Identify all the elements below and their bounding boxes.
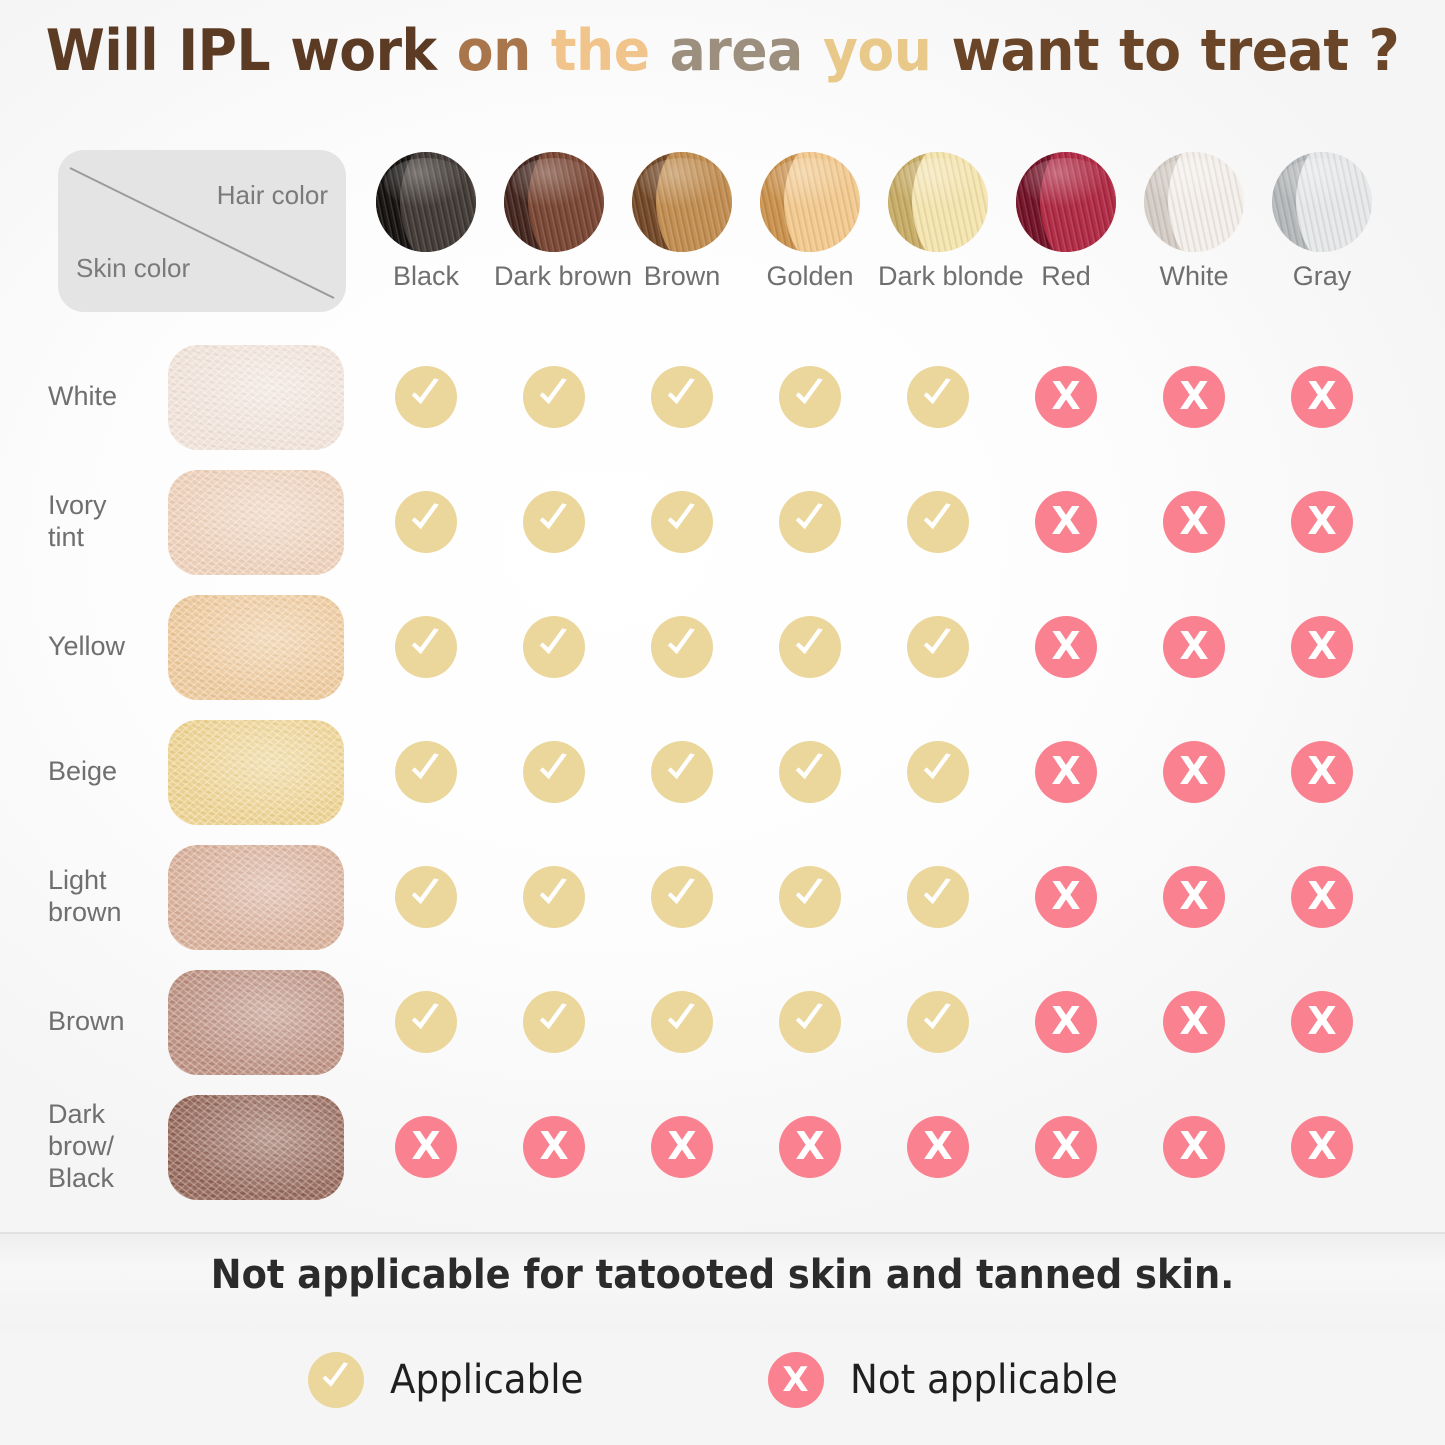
skin-color-label-ivory-tint: Ivorytint bbox=[48, 490, 178, 554]
not-applicable-mark: X bbox=[1163, 866, 1225, 928]
not-applicable-mark: X bbox=[1291, 491, 1353, 553]
title-word: want bbox=[951, 18, 1100, 84]
legend-label: Not applicable bbox=[850, 1357, 1118, 1403]
check-icon bbox=[407, 376, 443, 412]
title-word: IPL bbox=[177, 18, 271, 84]
skin-color-label-dark-brow-black: Darkbrow/Black bbox=[48, 1099, 178, 1195]
applicable-mark bbox=[779, 616, 841, 678]
applicable-mark bbox=[651, 866, 713, 928]
cross-icon: X bbox=[779, 1116, 841, 1178]
cross-icon: X bbox=[1163, 366, 1225, 428]
check-icon bbox=[791, 1001, 827, 1037]
hair-swatch-icon bbox=[498, 152, 610, 252]
check-icon bbox=[407, 876, 443, 912]
result-cell bbox=[651, 491, 713, 553]
applicable-mark bbox=[907, 616, 969, 678]
result-cell bbox=[523, 991, 585, 1053]
result-cell: X bbox=[395, 1116, 457, 1178]
result-cell bbox=[523, 491, 585, 553]
applicable-mark bbox=[907, 741, 969, 803]
title-word: you bbox=[822, 18, 932, 84]
not-applicable-mark: X bbox=[1035, 1116, 1097, 1178]
applicable-mark bbox=[779, 866, 841, 928]
hair-color-header-golden: Golden bbox=[750, 152, 870, 292]
not-applicable-mark: X bbox=[1291, 1116, 1353, 1178]
cross-icon: X bbox=[1035, 491, 1097, 553]
cross-icon: X bbox=[768, 1352, 824, 1408]
result-cell: X bbox=[1291, 741, 1353, 803]
ipl-compatibility-chart: Will IPL work on the area you want to tr… bbox=[0, 0, 1445, 1445]
applicable-mark bbox=[651, 741, 713, 803]
check-icon bbox=[535, 626, 571, 662]
hair-swatch-icon bbox=[882, 152, 994, 252]
result-cell bbox=[523, 616, 585, 678]
applicable-mark bbox=[395, 491, 457, 553]
title-word: ? bbox=[1368, 18, 1401, 84]
applicable-mark bbox=[395, 366, 457, 428]
skin-color-label-white: White bbox=[48, 381, 178, 413]
applicable-mark bbox=[779, 741, 841, 803]
not-applicable-mark: X bbox=[907, 1116, 969, 1178]
check-icon bbox=[791, 626, 827, 662]
skin-swatch-brown bbox=[168, 970, 344, 1075]
result-cell: X bbox=[1291, 866, 1353, 928]
result-cell bbox=[779, 366, 841, 428]
skin-swatch-dark-brow-black bbox=[168, 1095, 344, 1200]
applicable-mark bbox=[395, 866, 457, 928]
cross-icon: X bbox=[1291, 741, 1353, 803]
not-applicable-mark: X bbox=[1035, 991, 1097, 1053]
cross-icon: X bbox=[1035, 866, 1097, 928]
cross-icon: X bbox=[1035, 741, 1097, 803]
hair-swatch-icon bbox=[754, 152, 866, 252]
skin-swatch-light-brown bbox=[168, 845, 344, 950]
result-cell: X bbox=[1291, 991, 1353, 1053]
result-cell bbox=[779, 741, 841, 803]
result-cell bbox=[395, 866, 457, 928]
result-cell: X bbox=[779, 1116, 841, 1178]
cross-icon: X bbox=[1163, 616, 1225, 678]
applicable-mark bbox=[523, 866, 585, 928]
check-icon bbox=[663, 1001, 699, 1037]
applicable-mark bbox=[779, 991, 841, 1053]
check-icon bbox=[407, 501, 443, 537]
result-cell: X bbox=[1163, 366, 1225, 428]
hair-color-header-dark-brown: Dark brown bbox=[494, 152, 614, 292]
cross-icon: X bbox=[523, 1116, 585, 1178]
result-cell bbox=[907, 741, 969, 803]
result-cell bbox=[523, 741, 585, 803]
title-word: area bbox=[669, 18, 804, 84]
check-icon bbox=[308, 1352, 364, 1408]
hair-color-label: White bbox=[1134, 261, 1254, 292]
result-cell bbox=[651, 741, 713, 803]
compatibility-grid: Hair color Skin color BlackDark brownBro… bbox=[0, 140, 1445, 1210]
cross-icon: X bbox=[1291, 366, 1353, 428]
check-icon bbox=[791, 876, 827, 912]
skin-color-label-brown: Brown bbox=[48, 1006, 178, 1038]
check-icon bbox=[791, 376, 827, 412]
cross-icon: X bbox=[1035, 1116, 1097, 1178]
hair-color-label: Dark brown bbox=[494, 261, 614, 292]
applicable-mark bbox=[395, 741, 457, 803]
check-icon bbox=[919, 876, 955, 912]
result-cell: X bbox=[1291, 366, 1353, 428]
legend-item-yes: Applicable bbox=[308, 1352, 598, 1408]
applicable-mark bbox=[523, 741, 585, 803]
result-cell: X bbox=[907, 1116, 969, 1178]
result-cell: X bbox=[651, 1116, 713, 1178]
check-icon bbox=[663, 626, 699, 662]
hair-color-header-brown: Brown bbox=[622, 152, 742, 292]
check-icon bbox=[407, 1001, 443, 1037]
cross-icon: X bbox=[1291, 866, 1353, 928]
result-cell: X bbox=[1035, 491, 1097, 553]
skin-color-label-beige: Beige bbox=[48, 756, 178, 788]
result-cell bbox=[651, 991, 713, 1053]
result-cell: X bbox=[1163, 866, 1225, 928]
skin-color-label-light-brown: Lightbrown bbox=[48, 865, 178, 929]
check-icon bbox=[663, 876, 699, 912]
title-word: the bbox=[550, 18, 651, 84]
result-cell bbox=[651, 866, 713, 928]
hair-color-label: Dark blonde bbox=[878, 261, 998, 292]
not-applicable-mark: X bbox=[779, 1116, 841, 1178]
check-icon bbox=[919, 501, 955, 537]
title-word: treat bbox=[1200, 18, 1350, 84]
applicable-mark bbox=[523, 991, 585, 1053]
cross-icon: X bbox=[1291, 491, 1353, 553]
applicable-mark bbox=[395, 616, 457, 678]
band-top-edge bbox=[0, 1232, 1445, 1234]
check-icon bbox=[663, 501, 699, 537]
cross-icon: X bbox=[1163, 1116, 1225, 1178]
not-applicable-mark: X bbox=[395, 1116, 457, 1178]
applicable-mark bbox=[395, 991, 457, 1053]
not-applicable-mark: X bbox=[1035, 866, 1097, 928]
check-icon bbox=[663, 751, 699, 787]
cross-icon: X bbox=[1163, 741, 1225, 803]
check-icon bbox=[535, 376, 571, 412]
cross-icon: X bbox=[1163, 491, 1225, 553]
skin-swatch-ivory-tint bbox=[168, 470, 344, 575]
applicable-mark bbox=[907, 866, 969, 928]
result-cell bbox=[395, 741, 457, 803]
result-cell: X bbox=[1035, 1116, 1097, 1178]
legend: ApplicableXNot applicable bbox=[0, 1352, 1445, 1408]
result-cell: X bbox=[1163, 616, 1225, 678]
not-applicable-mark: X bbox=[1163, 491, 1225, 553]
result-cell bbox=[907, 616, 969, 678]
cross-icon: X bbox=[1163, 866, 1225, 928]
hair-color-label: Gray bbox=[1262, 261, 1382, 292]
check-icon bbox=[919, 1001, 955, 1037]
hair-swatch-icon bbox=[1010, 152, 1122, 252]
axis-legend-corner: Hair color Skin color bbox=[58, 150, 346, 312]
hair-color-header-dark-blonde: Dark blonde bbox=[878, 152, 998, 292]
result-cell: X bbox=[1163, 491, 1225, 553]
applicable-mark bbox=[523, 491, 585, 553]
hair-swatch-icon bbox=[1266, 152, 1378, 252]
not-applicable-mark: X bbox=[1163, 991, 1225, 1053]
result-cell bbox=[779, 991, 841, 1053]
hair-color-label: Black bbox=[366, 261, 486, 292]
applicable-mark bbox=[651, 991, 713, 1053]
not-applicable-mark: X bbox=[651, 1116, 713, 1178]
not-applicable-mark: X bbox=[1163, 366, 1225, 428]
applicable-mark bbox=[779, 366, 841, 428]
applicable-mark bbox=[907, 991, 969, 1053]
legend-item-no: XNot applicable bbox=[768, 1352, 1138, 1408]
title-word: on bbox=[456, 18, 532, 84]
check-icon bbox=[535, 751, 571, 787]
applicable-mark bbox=[907, 491, 969, 553]
cross-icon: X bbox=[768, 1352, 824, 1408]
result-cell: X bbox=[1035, 616, 1097, 678]
check-icon bbox=[318, 1360, 352, 1394]
applicable-mark bbox=[651, 491, 713, 553]
not-applicable-mark: X bbox=[1291, 991, 1353, 1053]
result-cell bbox=[523, 866, 585, 928]
result-cell: X bbox=[1035, 866, 1097, 928]
result-cell bbox=[907, 991, 969, 1053]
check-icon bbox=[919, 376, 955, 412]
result-cell bbox=[907, 866, 969, 928]
hair-color-label: Golden bbox=[750, 261, 870, 292]
skin-color-axis-label: Skin color bbox=[76, 253, 190, 284]
not-applicable-mark: X bbox=[1163, 616, 1225, 678]
result-cell: X bbox=[1035, 741, 1097, 803]
cross-icon: X bbox=[651, 1116, 713, 1178]
result-cell: X bbox=[523, 1116, 585, 1178]
not-applicable-mark: X bbox=[1163, 741, 1225, 803]
result-cell bbox=[651, 616, 713, 678]
applicable-mark bbox=[523, 616, 585, 678]
check-icon bbox=[919, 626, 955, 662]
cross-icon: X bbox=[907, 1116, 969, 1178]
hair-color-header-white: White bbox=[1134, 152, 1254, 292]
not-applicable-mark: X bbox=[1291, 616, 1353, 678]
not-applicable-mark: X bbox=[1035, 491, 1097, 553]
cross-icon: X bbox=[1163, 991, 1225, 1053]
check-icon bbox=[791, 751, 827, 787]
hair-color-axis-label: Hair color bbox=[217, 180, 328, 211]
check-icon bbox=[535, 876, 571, 912]
title-word: Will bbox=[45, 18, 159, 84]
applicable-mark bbox=[651, 616, 713, 678]
result-cell: X bbox=[1291, 1116, 1353, 1178]
result-cell bbox=[779, 491, 841, 553]
cross-icon: X bbox=[1291, 616, 1353, 678]
hair-color-header-red: Red bbox=[1006, 152, 1126, 292]
not-applicable-mark: X bbox=[1035, 616, 1097, 678]
hair-color-header-black: Black bbox=[366, 152, 486, 292]
result-cell bbox=[395, 991, 457, 1053]
not-applicable-mark: X bbox=[1291, 741, 1353, 803]
cross-icon: X bbox=[1035, 616, 1097, 678]
result-cell: X bbox=[1035, 366, 1097, 428]
hair-color-header-gray: Gray bbox=[1262, 152, 1382, 292]
applicable-mark bbox=[523, 366, 585, 428]
result-cell bbox=[779, 616, 841, 678]
skin-color-label-yellow: Yellow bbox=[48, 631, 178, 663]
result-cell: X bbox=[1291, 616, 1353, 678]
result-cell: X bbox=[1163, 991, 1225, 1053]
hair-swatch-icon bbox=[626, 152, 738, 252]
applicable-mark bbox=[779, 491, 841, 553]
cross-icon: X bbox=[1291, 991, 1353, 1053]
result-cell: X bbox=[1291, 491, 1353, 553]
check-icon bbox=[791, 501, 827, 537]
hair-color-label: Brown bbox=[622, 261, 742, 292]
skin-swatch-beige bbox=[168, 720, 344, 825]
not-applicable-mark: X bbox=[1291, 866, 1353, 928]
result-cell: X bbox=[1163, 741, 1225, 803]
result-cell bbox=[907, 491, 969, 553]
page-title: Will IPL work on the area you want to tr… bbox=[43, 18, 1401, 84]
check-icon bbox=[663, 376, 699, 412]
hair-swatch-icon bbox=[370, 152, 482, 252]
result-cell: X bbox=[1035, 991, 1097, 1053]
skin-swatch-yellow bbox=[168, 595, 344, 700]
not-applicable-mark: X bbox=[1035, 741, 1097, 803]
check-icon bbox=[535, 501, 571, 537]
disclaimer-caption: Not applicable for tatooted skin and tan… bbox=[58, 1252, 1387, 1298]
check-icon bbox=[407, 626, 443, 662]
result-cell bbox=[779, 866, 841, 928]
result-cell bbox=[395, 366, 457, 428]
cross-icon: X bbox=[395, 1116, 457, 1178]
skin-swatch-white bbox=[168, 345, 344, 450]
applicable-mark bbox=[651, 366, 713, 428]
result-cell bbox=[523, 366, 585, 428]
cross-icon: X bbox=[1291, 1116, 1353, 1178]
legend-label: Applicable bbox=[390, 1357, 583, 1403]
check-icon bbox=[919, 751, 955, 787]
not-applicable-mark: X bbox=[523, 1116, 585, 1178]
title-word: to bbox=[1118, 18, 1181, 84]
result-cell: X bbox=[1163, 1116, 1225, 1178]
hair-swatch-icon bbox=[1138, 152, 1250, 252]
not-applicable-mark: X bbox=[1163, 1116, 1225, 1178]
applicable-mark bbox=[907, 366, 969, 428]
cross-icon: X bbox=[1035, 991, 1097, 1053]
result-cell bbox=[907, 366, 969, 428]
result-cell bbox=[651, 366, 713, 428]
not-applicable-mark: X bbox=[1035, 366, 1097, 428]
diagonal-divider-icon bbox=[58, 150, 346, 312]
not-applicable-mark: X bbox=[1291, 366, 1353, 428]
result-cell bbox=[395, 616, 457, 678]
title-word: work bbox=[289, 18, 437, 84]
result-cell bbox=[395, 491, 457, 553]
check-icon bbox=[407, 751, 443, 787]
hair-color-label: Red bbox=[1006, 261, 1126, 292]
check-icon bbox=[535, 1001, 571, 1037]
cross-icon: X bbox=[1035, 366, 1097, 428]
